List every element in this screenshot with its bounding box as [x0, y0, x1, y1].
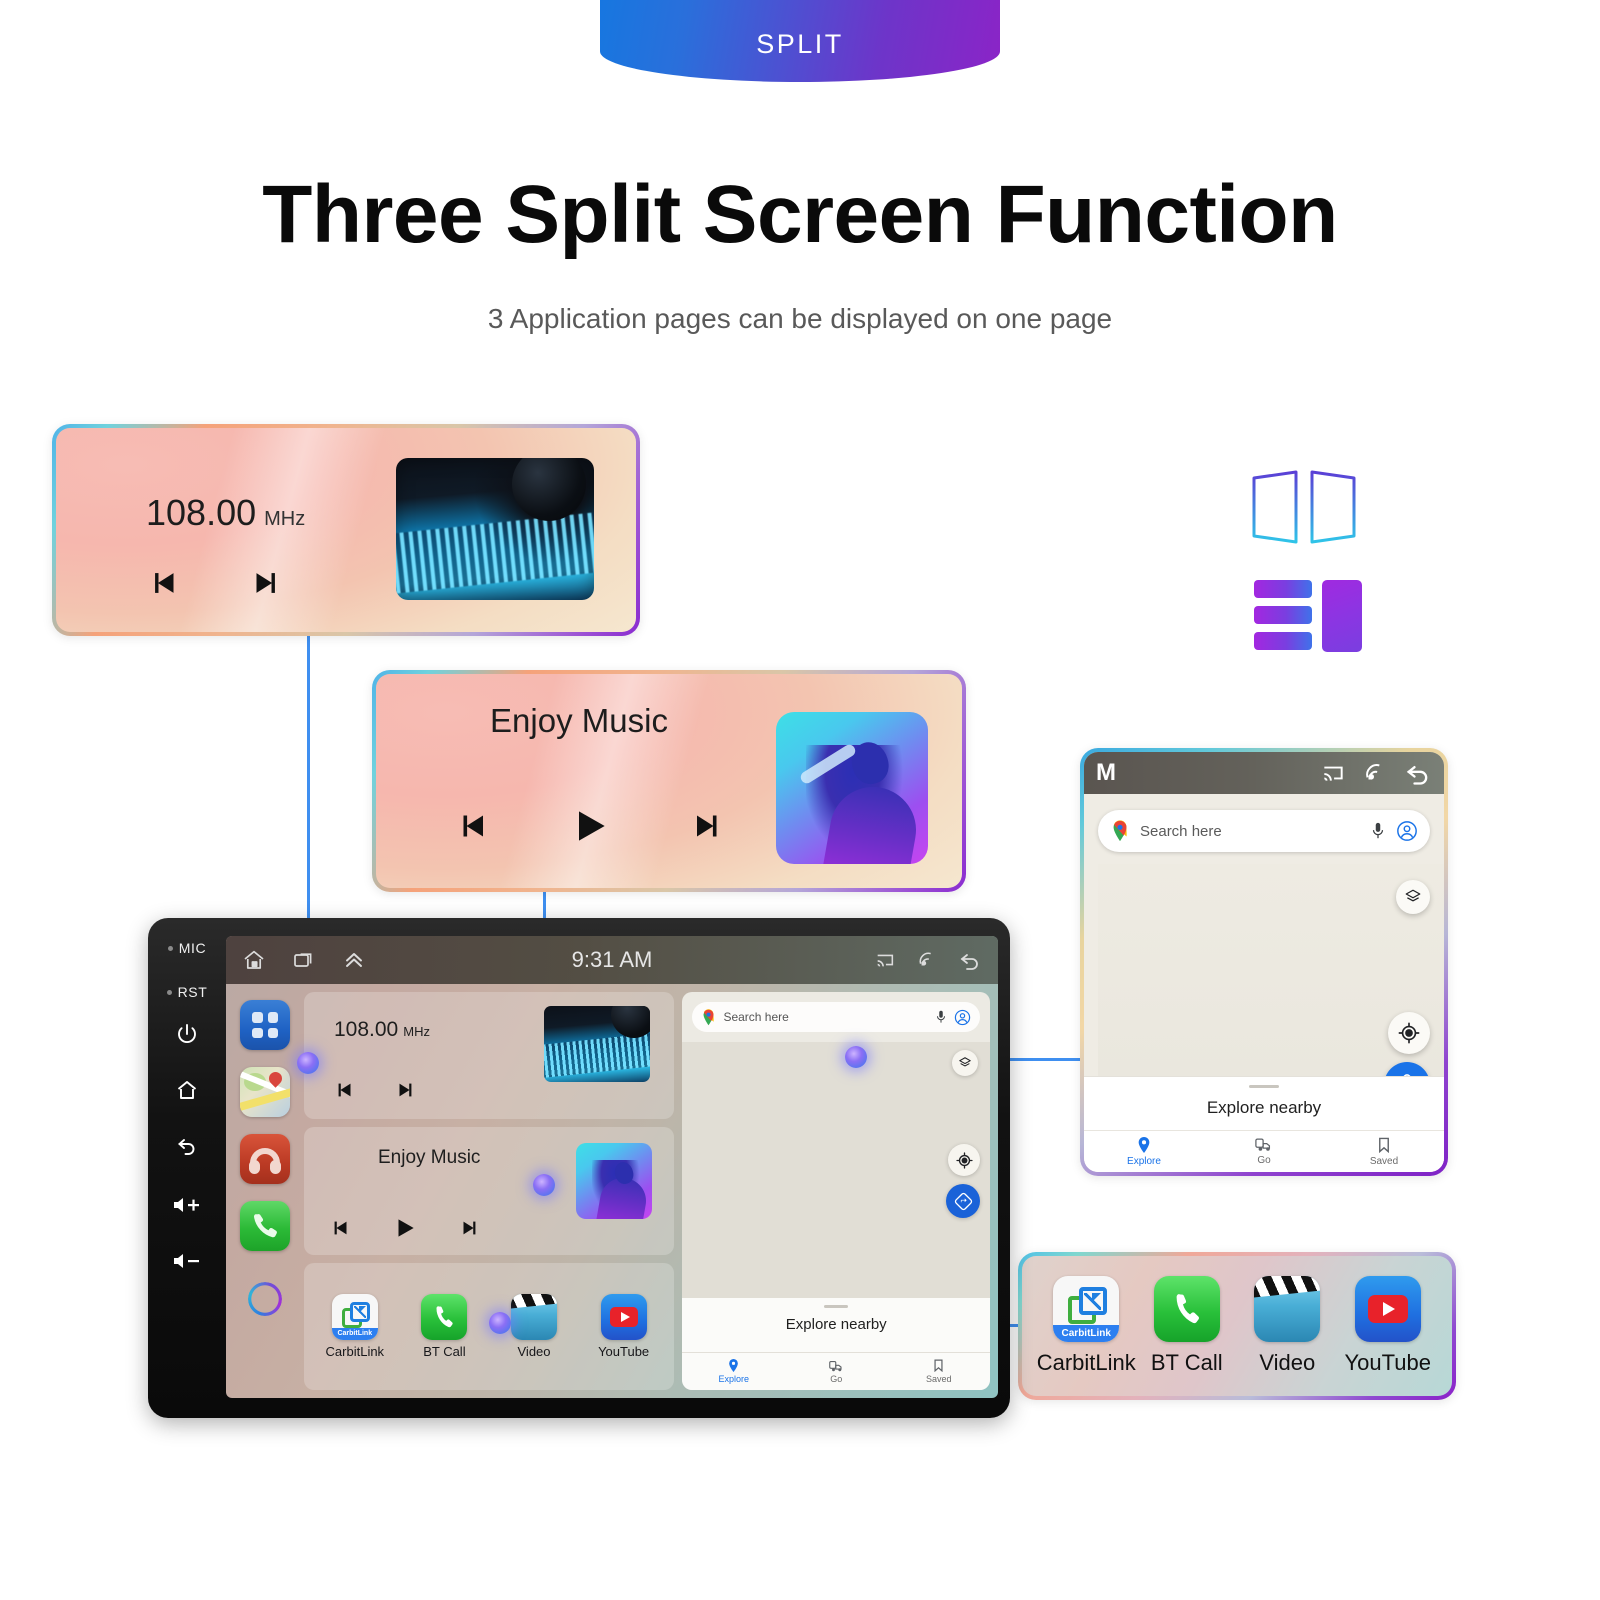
next-track-icon[interactable] — [688, 808, 724, 844]
radio-frequency-unit: MHz — [264, 508, 305, 530]
app-carbitlink[interactable]: CarbitLink CarbitLink — [321, 1294, 389, 1359]
volume-up-icon[interactable] — [148, 1194, 226, 1216]
panel-map-canvas[interactable] — [682, 1042, 990, 1298]
carbitlink-icon: CarbitLink — [1053, 1276, 1119, 1342]
apps-grid-icon — [252, 1012, 278, 1038]
screen-share-icon[interactable] — [1362, 760, 1388, 786]
device-left-bezel: MIC RST — [148, 918, 226, 1418]
app-label-video: Video — [1259, 1350, 1315, 1376]
account-avatar-icon[interactable] — [1396, 820, 1418, 842]
panel-map-search-placeholder: Search here — [723, 1010, 928, 1024]
panel-map-directions-button[interactable] — [946, 1184, 980, 1218]
app-video[interactable]: Video — [1239, 1276, 1335, 1376]
commute-icon — [1255, 1137, 1273, 1152]
panel-music[interactable]: Enjoy Music — [304, 1127, 674, 1254]
page-root: SPLIT Three Split Screen Function 3 Appl… — [0, 0, 1600, 1600]
play-icon[interactable] — [568, 804, 612, 848]
panel-map-tab-saved[interactable]: Saved — [887, 1353, 990, 1390]
app-label-carbitlink: CarbitLink — [1037, 1350, 1136, 1376]
prev-track-icon[interactable] — [456, 808, 492, 844]
split-bar — [1254, 580, 1312, 598]
map-road-yellow — [240, 1086, 290, 1112]
panel-map-tab-explore-label: Explore — [718, 1374, 749, 1384]
youtube-play-box — [610, 1307, 638, 1327]
sidebar-item-phone[interactable] — [240, 1201, 290, 1251]
map-tab-go-label: Go — [1257, 1155, 1270, 1166]
clapperboard-icon — [1254, 1276, 1320, 1342]
carbit-badge: CarbitLink — [1053, 1325, 1119, 1342]
apps-callout-card: CarbitLink CarbitLink BT Call Video — [1018, 1252, 1456, 1400]
map-my-location-button[interactable] — [1388, 1012, 1430, 1054]
panel-music-album-art — [576, 1143, 652, 1219]
carbit-arrow — [1084, 1293, 1101, 1310]
panel-radio-controls — [334, 1079, 416, 1101]
connector-dot-radio — [297, 1052, 319, 1074]
screen-sidebar — [226, 984, 304, 1398]
connector-dot-music — [533, 1174, 555, 1196]
panel-maps[interactable]: Search here — [682, 992, 990, 1390]
bezel-mic: MIC — [148, 940, 226, 956]
phone-icon — [1154, 1276, 1220, 1342]
decor-split-icons — [1248, 468, 1398, 638]
play-icon[interactable] — [392, 1215, 418, 1241]
carbit-badge: CarbitLink — [332, 1328, 378, 1340]
panel-map-bottom-sheet[interactable]: Explore nearby Explore — [682, 1298, 990, 1390]
device-screen-body: 108.00MHz Enjoy Music — [226, 984, 998, 1398]
map-tab-saved-label: Saved — [1370, 1156, 1398, 1167]
banner-shape: SPLIT — [600, 0, 1000, 82]
carbitlink-icon: CarbitLink — [332, 1294, 378, 1340]
panel-radio-unit: MHz — [403, 1024, 430, 1039]
connector-dot-map — [845, 1046, 867, 1068]
music-album-art — [776, 712, 928, 864]
bookmark-icon — [1377, 1137, 1391, 1153]
panel-map-tabbar: Explore Go — [682, 1352, 990, 1390]
prev-track-icon[interactable] — [330, 1217, 352, 1239]
page-title: Three Split Screen Function — [0, 168, 1600, 262]
cast-icon[interactable] — [1320, 760, 1346, 786]
panel-music-title: Enjoy Music — [304, 1147, 554, 1169]
app-label-bt-call: BT Call — [1151, 1350, 1223, 1376]
back-icon[interactable] — [148, 1134, 226, 1158]
clapper-top — [511, 1294, 557, 1309]
account-avatar-icon[interactable] — [954, 1009, 971, 1026]
prev-track-icon[interactable] — [334, 1079, 356, 1101]
back-icon[interactable] — [958, 948, 982, 972]
next-track-icon[interactable] — [248, 566, 282, 600]
google-maps-pin-icon — [701, 1009, 716, 1026]
carbit-arrow — [354, 1306, 366, 1318]
app-youtube[interactable]: YouTube — [1340, 1276, 1436, 1376]
sidebar-item-music[interactable] — [240, 1134, 290, 1184]
banner-label: SPLIT — [756, 29, 844, 60]
map-tab-explore[interactable]: Explore — [1084, 1131, 1204, 1172]
radio-frequency-value: 108.00 — [146, 492, 256, 533]
back-icon[interactable] — [1404, 759, 1432, 787]
device-statusbar: 9:31 AM — [226, 936, 998, 984]
panel-map-my-location-button[interactable] — [948, 1144, 980, 1176]
app-label-youtube: YouTube — [1345, 1350, 1431, 1376]
home-icon[interactable] — [148, 1078, 226, 1102]
radio-card-inner: 108.00MHz — [56, 428, 636, 632]
panel-radio-frequency-value: 108.00 — [334, 1018, 398, 1041]
panel-map-tab-go[interactable]: Go — [785, 1353, 888, 1390]
panel-map-layers-button[interactable] — [952, 1050, 978, 1076]
top-banner: SPLIT — [0, 0, 1600, 90]
prev-track-icon[interactable] — [148, 566, 182, 600]
headphone-ear-right — [270, 1160, 281, 1174]
app-carbitlink[interactable]: CarbitLink CarbitLink — [1038, 1276, 1134, 1376]
connector-dot-apps — [489, 1312, 511, 1334]
panel-radio-thumbnail — [544, 1006, 650, 1082]
map-statusbar-icons — [1320, 759, 1432, 787]
screen-main-area: 108.00MHz Enjoy Music — [304, 984, 998, 1398]
map-card-body: Search here — [1084, 794, 1444, 1172]
screen-share-icon[interactable] — [916, 949, 938, 971]
map-card-inner: M — [1084, 752, 1444, 1172]
bezel-mic-label: MIC — [179, 940, 206, 956]
panel-map-tab-explore[interactable]: Explore — [682, 1353, 785, 1390]
headphone-ear-left — [249, 1160, 260, 1174]
map-app-initial: M — [1096, 759, 1116, 787]
location-pin-icon — [728, 1359, 739, 1372]
app-bt-call[interactable]: BT Call — [410, 1294, 478, 1359]
sidebar-item-maps[interactable] — [240, 1067, 290, 1117]
radio-thumbnail — [396, 458, 594, 600]
panel-map-tab-go-label: Go — [830, 1374, 842, 1384]
youtube-icon — [601, 1294, 647, 1340]
car-head-unit: MIC RST — [148, 918, 1010, 1418]
google-maps-pin-icon — [1110, 820, 1130, 842]
phone-icon — [421, 1294, 467, 1340]
map-search-placeholder: Search here — [1140, 823, 1360, 840]
bookmark-icon — [933, 1359, 944, 1372]
map-tabbar: Explore Go — [1084, 1130, 1444, 1172]
assistant-ring-icon[interactable] — [248, 1282, 282, 1316]
app-bt-call[interactable]: BT Call — [1139, 1276, 1235, 1376]
device-screen: 9:31 AM — [226, 936, 998, 1398]
map-layers-button[interactable] — [1396, 880, 1430, 914]
youtube-icon — [1355, 1276, 1421, 1342]
power-icon[interactable] — [148, 1022, 226, 1046]
page-subtitle: 3 Application pages can be displayed on … — [0, 303, 1600, 335]
bezel-reset[interactable]: RST — [148, 984, 226, 1000]
split-left-bars — [1254, 580, 1312, 652]
split-bar — [1254, 606, 1312, 624]
app-label-video: Video — [518, 1344, 551, 1359]
map-tab-saved[interactable]: Saved — [1324, 1131, 1444, 1172]
radio-frequency: 108.00MHz — [146, 492, 305, 534]
cast-icon[interactable] — [874, 949, 896, 971]
panel-map-search-bar[interactable]: Search here — [692, 1002, 980, 1032]
microphone-icon[interactable] — [935, 1010, 947, 1024]
panel-radio-frequency: 108.00MHz — [334, 1018, 430, 1042]
app-youtube[interactable]: YouTube — [590, 1294, 658, 1359]
app-label-youtube: YouTube — [598, 1344, 649, 1359]
map-sheet-title: Explore nearby — [1084, 1098, 1444, 1118]
map-bottom-sheet[interactable]: Explore nearby Explore — [1084, 1076, 1444, 1172]
app-label-bt-call: BT Call — [423, 1344, 465, 1359]
music-callout-card: Enjoy Music — [372, 670, 966, 892]
split-right-panel — [1322, 580, 1362, 652]
bezel-rst-label: RST — [178, 984, 208, 1000]
mic-led — [168, 946, 173, 951]
radio-callout-card: 108.00MHz — [52, 424, 640, 636]
commute-icon — [829, 1360, 844, 1372]
panel-map-tab-saved-label: Saved — [926, 1374, 952, 1384]
sheet-grab-handle[interactable] — [824, 1305, 848, 1308]
map-tab-explore-label: Explore — [1127, 1156, 1161, 1167]
split-layout-icon — [1254, 580, 1362, 652]
next-track-icon[interactable] — [394, 1079, 416, 1101]
volume-down-icon[interactable] — [148, 1250, 226, 1272]
location-pin-icon — [1137, 1137, 1151, 1153]
split-bar — [1254, 632, 1312, 650]
statusbar-right-icons — [874, 948, 982, 972]
clapperboard-icon — [511, 1294, 557, 1340]
clapper-top — [1254, 1276, 1320, 1298]
youtube-play-box — [1368, 1295, 1408, 1323]
microphone-icon[interactable] — [1370, 822, 1386, 840]
map-callout-card: M — [1080, 748, 1448, 1176]
next-track-icon[interactable] — [458, 1217, 480, 1239]
sidebar-item-apps-grid[interactable] — [240, 1000, 290, 1050]
open-panels-icon — [1248, 468, 1398, 550]
panel-map-sheet-title: Explore nearby — [682, 1316, 990, 1333]
map-card-statusbar: M — [1084, 752, 1444, 794]
music-controls — [456, 804, 724, 848]
apps-card-inner: CarbitLink CarbitLink BT Call Video — [1022, 1256, 1452, 1396]
panel-radio[interactable]: 108.00MHz — [304, 992, 674, 1119]
sheet-grab-handle[interactable] — [1249, 1085, 1279, 1088]
panel-music-controls — [330, 1215, 480, 1241]
screen-left-column: 108.00MHz Enjoy Music — [304, 992, 674, 1390]
app-label-carbitlink: CarbitLink — [326, 1344, 385, 1359]
rst-hole — [167, 990, 172, 995]
radio-controls — [148, 566, 282, 600]
map-search-bar[interactable]: Search here — [1098, 810, 1430, 852]
map-tab-go[interactable]: Go — [1204, 1131, 1324, 1172]
music-card-inner: Enjoy Music — [376, 674, 962, 888]
